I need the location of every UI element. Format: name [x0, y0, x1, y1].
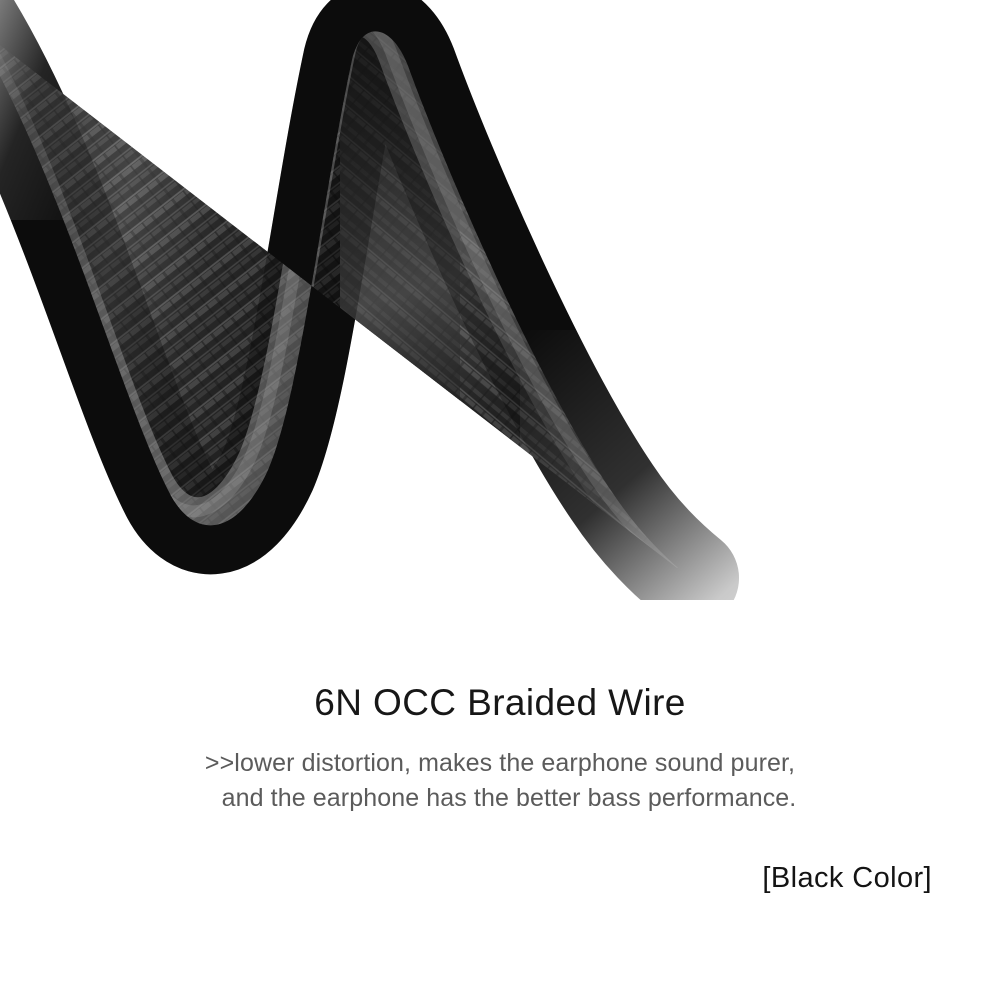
- photo-bottom-mask: [0, 600, 1000, 640]
- headline: 6N OCC Braided Wire: [0, 682, 1000, 724]
- product-photo: [0, 0, 1000, 640]
- braided-cable-illustration: [0, 0, 1000, 640]
- color-variant-label: [Black Color]: [762, 862, 932, 895]
- product-marketing-image: 6N OCC Braided Wire >>lower distortion, …: [0, 0, 1000, 1000]
- subcopy-line-2: and the earphone has the better bass per…: [0, 781, 1000, 816]
- subcopy-line-1: >>lower distortion, makes the earphone s…: [0, 746, 1000, 781]
- cable-head-fade: [0, 0, 130, 220]
- caption-block: 6N OCC Braided Wire >>lower distortion, …: [0, 640, 1000, 1000]
- cable-tail-fade: [520, 330, 1000, 640]
- subcopy: >>lower distortion, makes the earphone s…: [0, 746, 1000, 816]
